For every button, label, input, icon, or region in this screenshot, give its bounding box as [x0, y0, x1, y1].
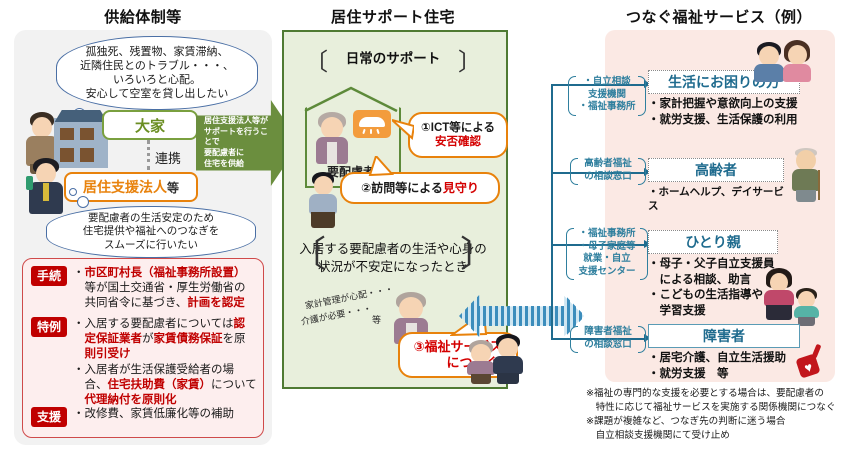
service-items-0: ・家計把握や意欲向上の支援・就労支援、生活保護の利用 — [648, 97, 800, 128]
mother-figure — [762, 268, 796, 320]
visiting-staff-figure — [306, 172, 340, 228]
help-mark-svg: ♥ — [796, 344, 824, 378]
service-item: ・家計把握や意欲向上の支援 — [648, 97, 800, 113]
help-mark-icon: ♥ — [796, 344, 824, 383]
owner-tag-label: 大家 — [135, 115, 165, 136]
callout1-emphasis: 安否確認 — [421, 135, 495, 149]
service-items-3: ・居宅介護、自立生活援助・就労支援 等 — [648, 351, 800, 382]
service-items-1: ・ホームヘルプ、デイサービス — [648, 185, 784, 213]
owner-tag: 大家 — [102, 110, 198, 140]
service-card-elderly: 高齢者 ・ホームヘルプ、デイサービス — [648, 158, 784, 213]
service-item: ・居宅介護、自立生活援助 — [648, 351, 800, 367]
service-source-1: 高齢者福祉 の相談窓口 — [570, 156, 646, 185]
service-card-disabled: 障害者 ・居宅介護、自立生活援助・就労支援 等 — [648, 324, 800, 382]
service-source-0: ・自立相談 支援機関 ・福祉事務所 — [568, 74, 646, 116]
owner-thought-text: 孤独死、残置物、家賃滞納、 近隣住民とのトラブル・・・、 いろいろと心配。 安心… — [76, 45, 238, 101]
service-title-2: ひとり親 — [648, 230, 778, 254]
service-item: 学習支援 — [648, 304, 778, 320]
connecting-staff-figure — [492, 334, 524, 384]
column-title-supply: 供給体制等 — [14, 6, 272, 27]
needy-person-b-figure — [782, 40, 812, 82]
support-org-suffix: 等 — [167, 179, 179, 196]
policy-text-0: ・市区町村長（福祉事務所設置） 等が国土交通省・厚生労働省の 共同省令に基づき、… — [73, 266, 246, 312]
service-item: ・就労支援、生活保護の利用 — [648, 113, 800, 129]
callout2-prefix: ②訪問等による — [361, 181, 443, 196]
policy-chip-0: 手続 — [31, 266, 67, 286]
owner-thought-cloud: 孤独死、残置物、家賃滞納、 近隣住民とのトラブル・・・、 いろいろと心配。 安心… — [56, 36, 258, 110]
note-bracket-right: 〕 — [460, 236, 496, 272]
support-org-figure — [26, 158, 66, 220]
bracket-right: 〕 — [458, 42, 482, 77]
support-org-label: 居住支援法人 — [83, 177, 167, 197]
service-title-1: 高齢者 — [648, 158, 784, 182]
service-item: ・ホームヘルプ、デイサービス — [648, 185, 784, 213]
callout-ict-safety-check: ①ICT等による 安否確認 — [408, 112, 508, 158]
column-title-support-housing: 居住サポート住宅 — [282, 6, 504, 27]
child-figure — [794, 288, 820, 326]
policy-row-1: 特例 ・入居する要配慮者については認 定保証業者が家賃債務保証を原 則引受け・入… — [31, 317, 257, 408]
policy-spec-box: 手続 ・市区町村長（福祉事務所設置） 等が国土交通省・厚生労働省の 共同省令に基… — [22, 258, 264, 438]
policy-row-0: 手続 ・市区町村長（福祉事務所設置） 等が国土交通省・厚生労働省の 共同省令に基… — [31, 266, 246, 312]
note-bracket-left: 〔 — [290, 236, 326, 272]
column-title-welfare-services: つなぐ福祉サービス（例） — [596, 6, 842, 27]
elderly-man-figure — [790, 148, 822, 202]
callout1-tail — [392, 118, 414, 140]
callout-visit-watch: ②訪問等による見守り — [340, 172, 500, 204]
policy-chip-2: 支援 — [31, 407, 67, 427]
service-item: ・母子・父子自立支援員 — [648, 257, 778, 273]
service-source-3: 障害者福祉 の相談窓口 — [570, 324, 646, 353]
resident-elderly-figure — [314, 112, 350, 164]
policy-chip-1: 特例 — [31, 317, 67, 337]
callout2-emphasis: 見守り — [443, 181, 479, 196]
service-item: による相談、助言 — [648, 273, 778, 289]
support-org-thought-cloud: 要配慮者の生活安定のため 住宅提供や福祉へのつなぎを スムーズに行いたい — [46, 206, 256, 258]
link-dotted-line — [147, 140, 150, 170]
service-item: ・就労支援 等 — [648, 367, 800, 383]
worry-etc: 等 — [372, 313, 381, 326]
daily-support-bracketed: 〔 日常のサポート 〕 — [300, 44, 486, 70]
service-title-3: 障害者 — [648, 324, 800, 348]
policy-text-2: ・改修費、家賃低廉化等の補助 — [73, 407, 234, 427]
ict-dish — [359, 117, 385, 127]
callout1-number-text: ①ICT等による — [421, 121, 495, 135]
policy-row-2: 支援 ・改修費、家賃低廉化等の補助 — [31, 407, 234, 427]
service-source-2: ・福祉事務所 ・母子家庭等 就業・自立 支援センター — [566, 226, 648, 280]
service-item: ・こどもの生活指導や — [648, 288, 778, 304]
service-spine-line — [551, 84, 553, 340]
footnote-text: ※福祉の専門的な支援を必要とする場合は、要配慮者の 特性に応じて福祉サービスを実… — [586, 387, 838, 443]
supply-flow-arrow-text: 居住支援法人等が サポートを行うことで 要配慮者に 住宅を供給 — [204, 116, 270, 170]
service-card-single-parent: ひとり親 ・母子・父子自立支援員 による相談、助言・こどもの生活指導や 学習支援 — [648, 230, 778, 319]
ict-sensor-icon — [353, 110, 391, 138]
unstable-condition-note: 〔 入居する要配慮者の生活や心身の 状況が不安定になったとき 〕 — [290, 238, 496, 286]
infographic-root: 供給体制等 居住サポート住宅 つなぐ福祉サービス（例） 孤独死、残置物、家賃滞納… — [0, 0, 842, 453]
callout2-tail — [368, 156, 394, 176]
service-items-2: ・母子・父子自立支援員 による相談、助言・こどもの生活指導や 学習支援 — [648, 257, 778, 319]
support-org-thought-text: 要配慮者の生活安定のため 住宅提供や福祉へのつなぎを スムーズに行いたい — [79, 212, 224, 252]
policy-text-1: ・入居する要配慮者については認 定保証業者が家賃債務保証を原 則引受け・入居者が… — [73, 317, 257, 408]
needy-person-a-figure — [754, 42, 784, 82]
link-label: 連携 — [155, 148, 181, 167]
